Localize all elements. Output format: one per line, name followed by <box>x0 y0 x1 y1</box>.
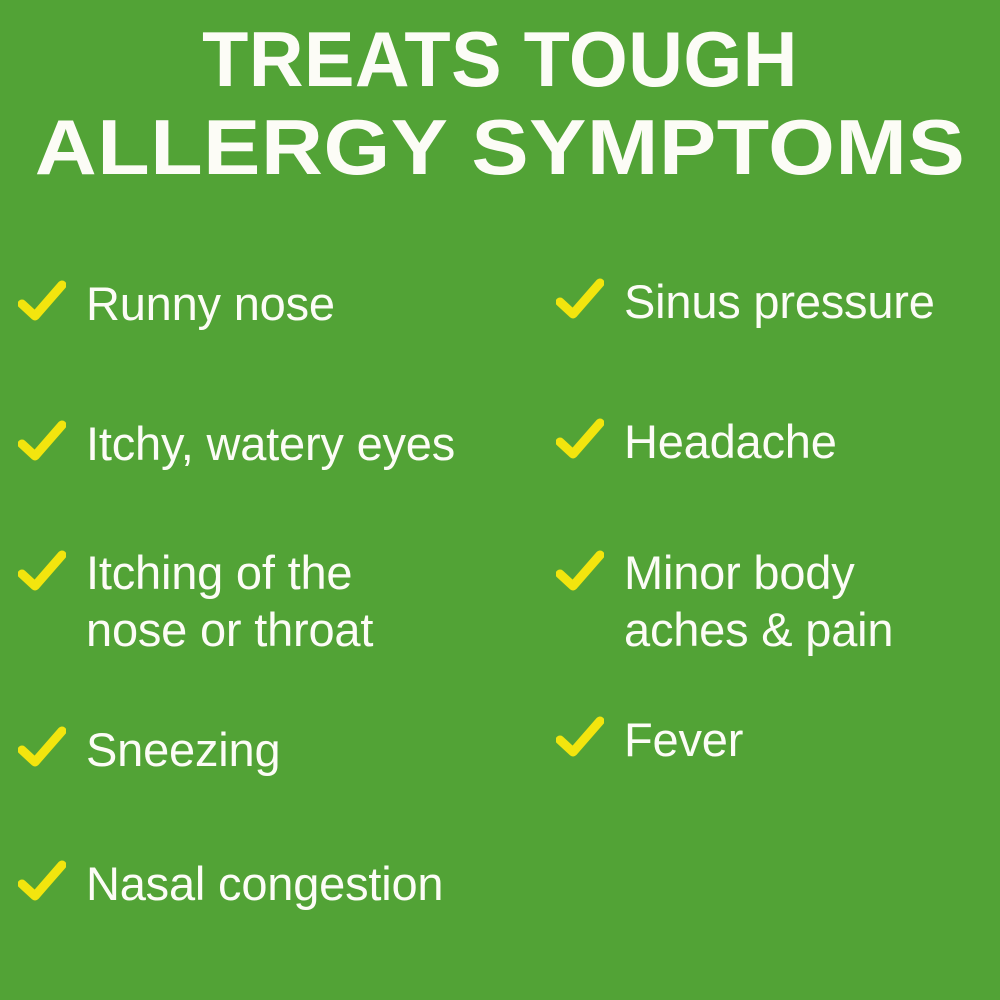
symptom-item-fever: Fever <box>556 710 743 770</box>
check-icon <box>556 550 604 594</box>
title-line-1: TREATS TOUGH <box>15 22 985 96</box>
check-icon <box>18 280 66 324</box>
symptom-item-itching-nose-throat: Itching of the nose or throat <box>18 544 373 659</box>
page-title: TREATS TOUGH ALLERGY SYMPTOMS <box>0 22 1000 184</box>
check-icon <box>556 716 604 760</box>
symptom-columns: Runny nose Itchy, watery eyes Itching of… <box>0 262 1000 962</box>
symptom-item-sinus-pressure: Sinus pressure <box>556 272 935 332</box>
check-icon <box>556 278 604 322</box>
check-icon <box>18 860 66 904</box>
symptom-label: Sneezing <box>86 720 280 780</box>
symptom-label: Runny nose <box>86 274 335 334</box>
check-icon <box>18 550 66 594</box>
symptom-item-minor-body-aches-pain: Minor body aches & pain <box>556 544 893 659</box>
symptom-label: Minor body aches & pain <box>624 544 893 659</box>
symptom-label: Fever <box>624 710 743 770</box>
check-icon <box>18 726 66 770</box>
check-icon <box>18 420 66 464</box>
allergy-symptoms-poster: TREATS TOUGH ALLERGY SYMPTOMS Runny nose <box>0 0 1000 1000</box>
symptom-label: Headache <box>624 412 837 472</box>
title-line-2: ALLERGY SYMPTOMS <box>0 110 1000 184</box>
check-icon <box>556 418 604 462</box>
symptom-label: Sinus pressure <box>624 272 935 332</box>
symptom-item-nasal-congestion: Nasal congestion <box>18 854 443 914</box>
symptom-label: Itchy, watery eyes <box>86 414 455 474</box>
symptom-label: Nasal congestion <box>86 854 443 914</box>
symptom-item-headache: Headache <box>556 412 837 472</box>
symptom-item-itchy-watery-eyes: Itchy, watery eyes <box>18 414 455 474</box>
symptom-label: Itching of the nose or throat <box>86 544 373 659</box>
symptom-item-runny-nose: Runny nose <box>18 274 335 334</box>
symptom-item-sneezing: Sneezing <box>18 720 280 780</box>
